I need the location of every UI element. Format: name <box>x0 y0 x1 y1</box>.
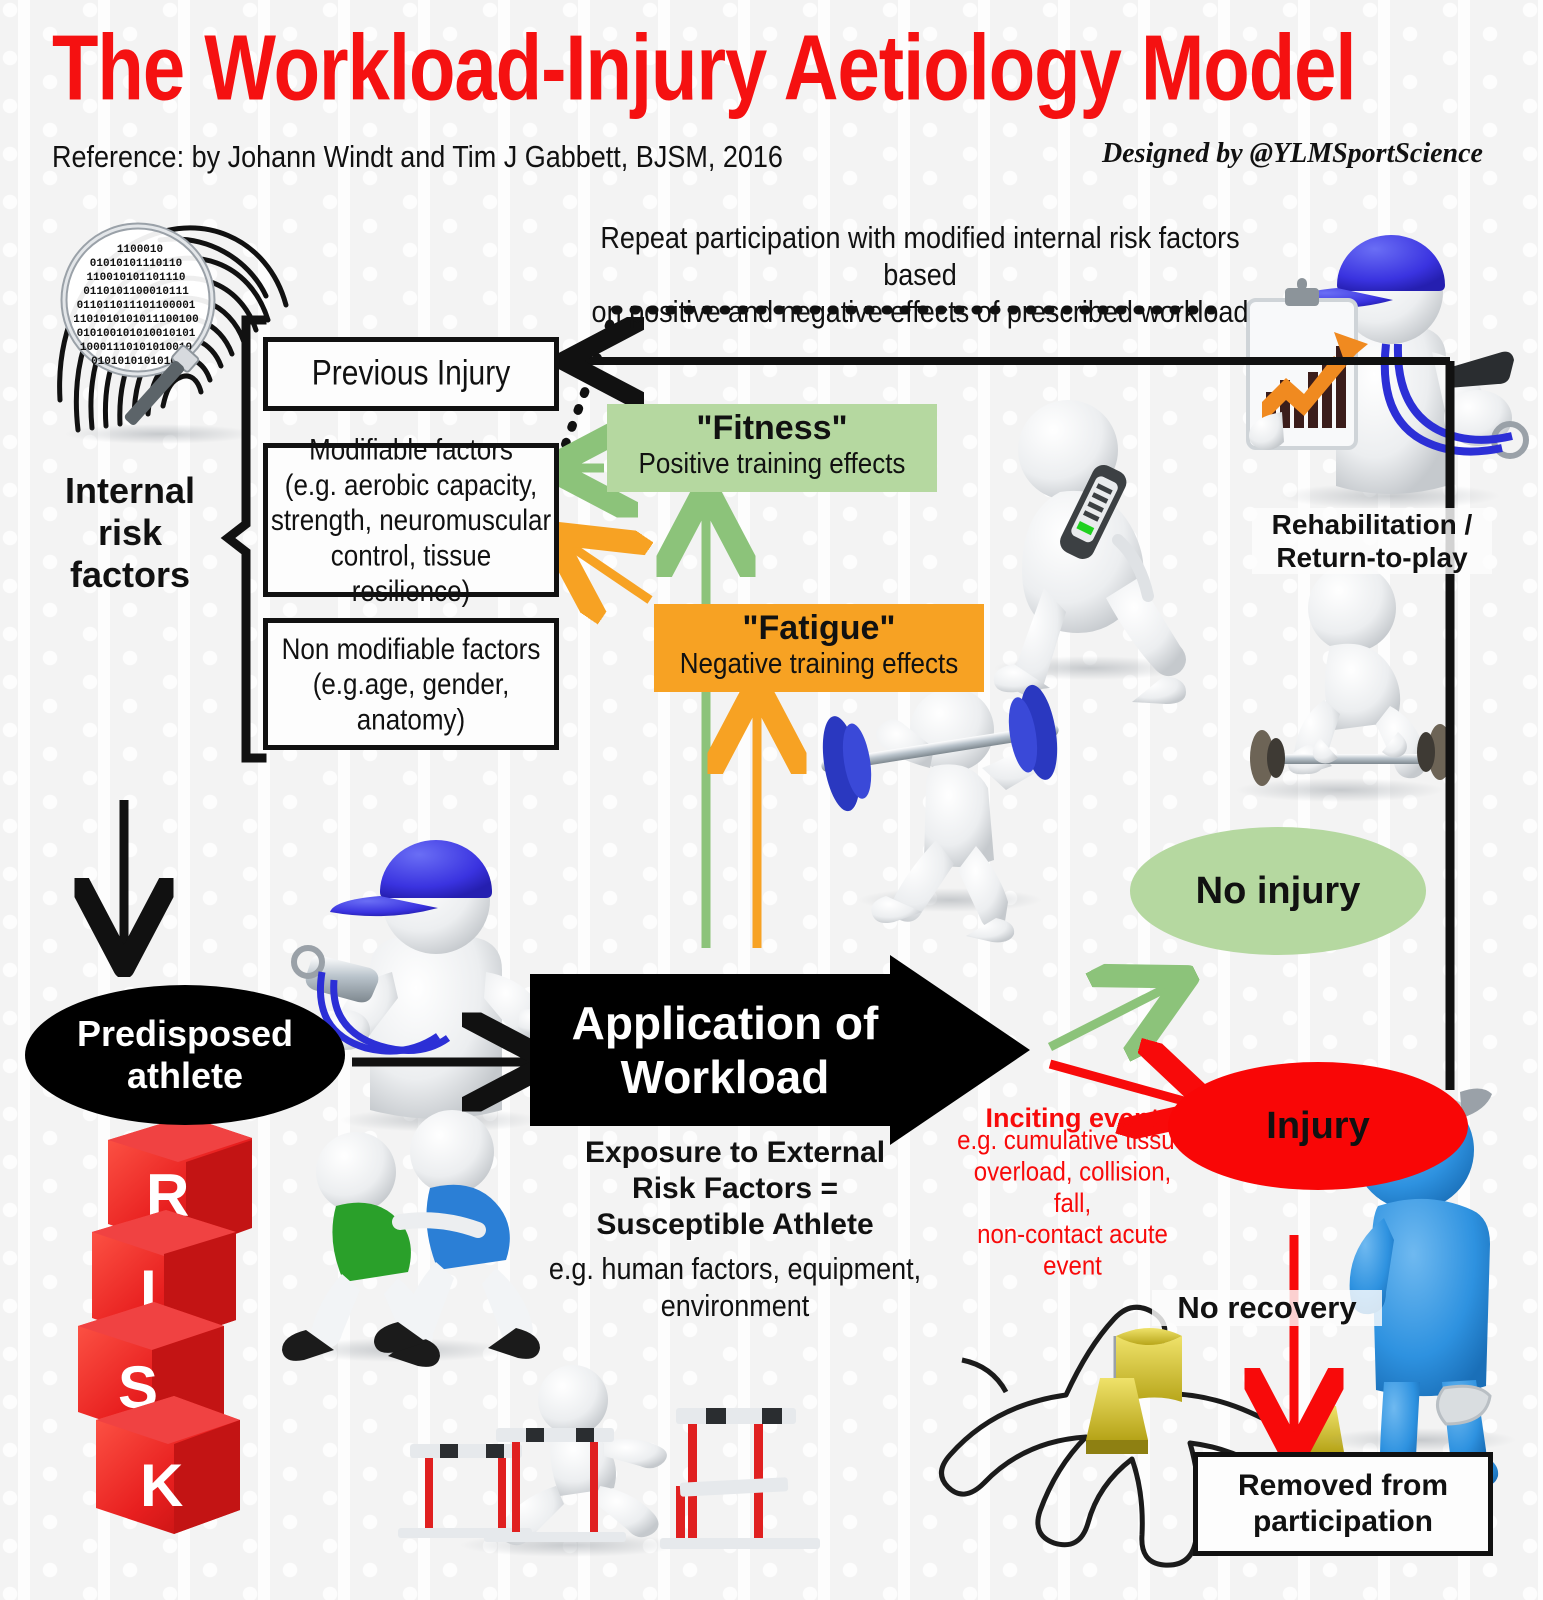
fingerprint-magnifier-illustration: 1100010 01010101110110 110010101101110 0… <box>60 226 286 444</box>
svg-text:1100010: 1100010 <box>117 244 163 256</box>
infographic-canvas: The Workload-Injury Aetiology Model Refe… <box>0 0 1543 1600</box>
fatigue-to-modifiable-arrow <box>566 543 650 600</box>
ellipse-no-injury: No injury <box>1130 827 1426 955</box>
internal-risk-factors-label: Internal risk factors <box>30 470 230 596</box>
ellipse-predisposed-athlete: Predisposed athlete <box>25 985 345 1125</box>
box-modifiable-factors: Modifiable factors (e.g. aerobic capacit… <box>263 443 559 597</box>
svg-text:011011011101100001: 011011011101100001 <box>77 300 196 312</box>
hurdler-illustration <box>398 1365 820 1557</box>
svg-text:1101010101011100100: 1101010101011100100 <box>73 314 198 326</box>
fitness-subtitle: Positive training effects <box>607 446 937 480</box>
referee-with-whistle-illustration <box>294 840 556 1132</box>
box-fatigue: "Fatigue" Negative training effects <box>654 604 984 692</box>
fatigue-title: "Fatigue" <box>654 608 984 648</box>
svg-text:K: K <box>140 1452 183 1519</box>
internal-risk-bracket <box>228 320 262 758</box>
workload-to-noinjury-arrow <box>1050 985 1172 1047</box>
fitness-title: "Fitness" <box>607 408 937 448</box>
reference-line: Reference: by Johann Windt and Tim J Gab… <box>52 140 783 175</box>
label-no-recovery: No recovery <box>1152 1290 1382 1326</box>
label-rehabilitation-return-to-play: Rehabilitation / Return-to-play <box>1252 508 1492 574</box>
svg-text:R: R <box>146 1162 189 1229</box>
svg-text:110010101101110: 110010101101110 <box>86 272 185 284</box>
rehab-lifter-illustration <box>1236 564 1452 802</box>
repeat-participation-text: Repeat participation with modified inter… <box>570 220 1270 331</box>
svg-text:010100101010010101: 010100101010010101 <box>77 328 196 340</box>
fatigue-subtitle: Negative training effects <box>654 646 984 680</box>
weightlifter-illustration <box>817 682 1063 942</box>
box-previous-injury: Previous Injury <box>263 337 559 411</box>
box-fitness: "Fitness" Positive training effects <box>607 404 937 492</box>
text-exposure-examples: e.g. human factors, equipment, environme… <box>540 1251 930 1325</box>
inciting-event-detail: e.g. cumulative tissue overload, collisi… <box>955 1126 1190 1283</box>
workload-label: Application of Workload <box>555 996 895 1104</box>
text-exposure-external-risk-factors: Exposure to External Risk Factors = Susc… <box>540 1135 930 1243</box>
svg-text:0110101100010111: 0110101100010111 <box>83 286 189 298</box>
svg-text:10001110101010010: 10001110101010010 <box>80 342 192 354</box>
workload-to-injury-arrow <box>1050 1064 1198 1105</box>
risk-blocks-illustration: R I S K <box>78 1116 252 1534</box>
svg-text:I: I <box>140 1258 157 1325</box>
box-non-modifiable-factors: Non modifiable factors (e.g.age, gender,… <box>263 618 559 750</box>
coach-with-clipboard-illustration <box>1248 235 1526 509</box>
designer-credit: Designed by @YLMSportScience <box>1102 138 1483 170</box>
ellipse-injury: Injury <box>1168 1062 1468 1190</box>
svg-text:01010101110110: 01010101110110 <box>90 258 182 270</box>
text-inciting-event: Inciting event e.g. cumulative tissue ov… <box>955 1103 1190 1274</box>
runner-with-gps-device-illustration <box>994 400 1186 704</box>
box-removed-from-participation: Removed from participation <box>1193 1452 1493 1556</box>
soccer-tackle-illustration <box>282 1110 540 1367</box>
svg-text:0101010101010: 0101010101010 <box>91 356 177 368</box>
svg-text:S: S <box>118 1354 158 1421</box>
page-title: The Workload-Injury Aetiology Model <box>52 18 1502 120</box>
